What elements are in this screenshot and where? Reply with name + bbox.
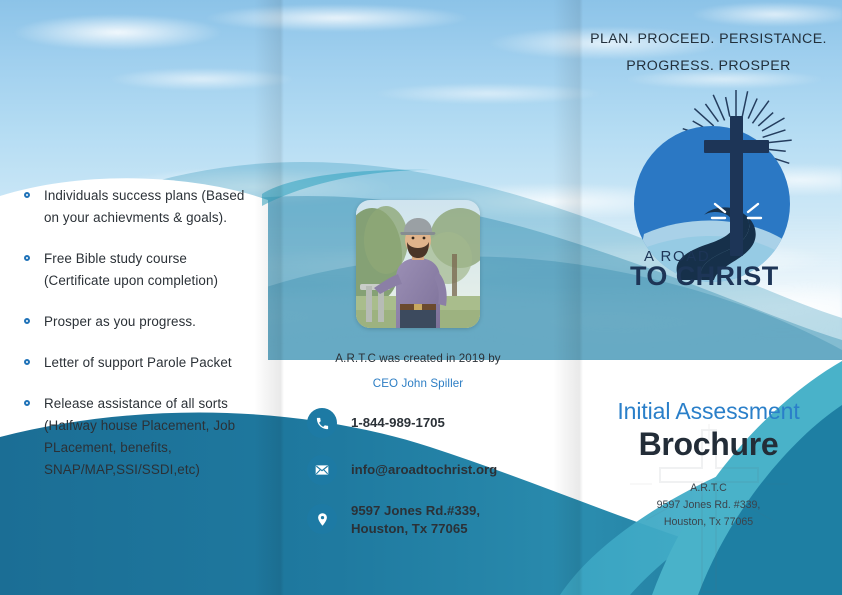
email-address: info@aroadtochrist.org: [351, 461, 497, 479]
tagline-line-2: PROGRESS. PROSPER: [575, 53, 842, 80]
contact-row-phone[interactable]: 1-844-989-1705: [307, 408, 553, 438]
address-line-2: Houston, Tx 77065: [351, 521, 468, 536]
brochure-page: Individuals success plans (Based on your…: [0, 0, 842, 595]
phone-number: 1-844-989-1705: [351, 414, 445, 432]
list-item: Release assistance of all sorts (Halfway…: [24, 393, 252, 481]
tagline: PLAN. PROCEED. PERSISTANCE. PROGRESS. PR…: [575, 26, 842, 80]
center-panel: A.R.T.C was created in 2019 by CEO John …: [283, 200, 553, 555]
phone-icon: [307, 408, 337, 438]
tagline-line-1: PLAN. PROCEED. PERSISTANCE.: [575, 26, 842, 53]
page-title-secondary: Brochure: [575, 426, 842, 463]
org-address-line-1: 9597 Jones Rd. #339,: [575, 497, 842, 514]
ceo-photo: [356, 200, 480, 328]
page-title-primary: Initial Assessment: [575, 398, 842, 425]
ceo-name: CEO John Spiller: [283, 377, 553, 390]
list-item: Individuals success plans (Based on your…: [24, 185, 252, 229]
founded-text: A.R.T.C was created in 2019 by: [283, 352, 553, 365]
location-icon: [307, 504, 337, 534]
title-block: Initial Assessment Brochure A.R.T.C 9597…: [575, 398, 842, 531]
list-item: Prosper as you progress.: [24, 311, 252, 333]
street-address: 9597 Jones Rd.#339, Houston, Tx 77065: [351, 502, 480, 538]
left-panel: Individuals success plans (Based on your…: [0, 185, 262, 500]
org-name: A.R.T.C: [575, 480, 842, 497]
contact-row-email[interactable]: info@aroadtochrist.org: [307, 455, 553, 485]
org-address-line-2: Houston, Tx 77065: [575, 514, 842, 531]
services-bullet-list: Individuals success plans (Based on your…: [0, 185, 262, 481]
logo-text-bottom: TO CHRIST: [630, 261, 779, 291]
org-address-block: A.R.T.C 9597 Jones Rd. #339, Houston, Tx…: [575, 480, 842, 531]
address-line-1: 9597 Jones Rd.#339,: [351, 503, 480, 518]
contact-list: 1-844-989-1705 info@aroadtochrist.org: [283, 408, 553, 538]
list-item: Free Bible study course (Certificate upo…: [24, 248, 252, 292]
contact-row-address[interactable]: 9597 Jones Rd.#339, Houston, Tx 77065: [307, 502, 553, 538]
email-icon: [307, 455, 337, 485]
a-road-to-christ-logo: A ROAD TO CHRIST: [584, 84, 834, 299]
list-item: Letter of support Parole Packet: [24, 352, 252, 374]
right-panel: PLAN. PROCEED. PERSISTANCE. PROGRESS. PR…: [575, 0, 842, 595]
